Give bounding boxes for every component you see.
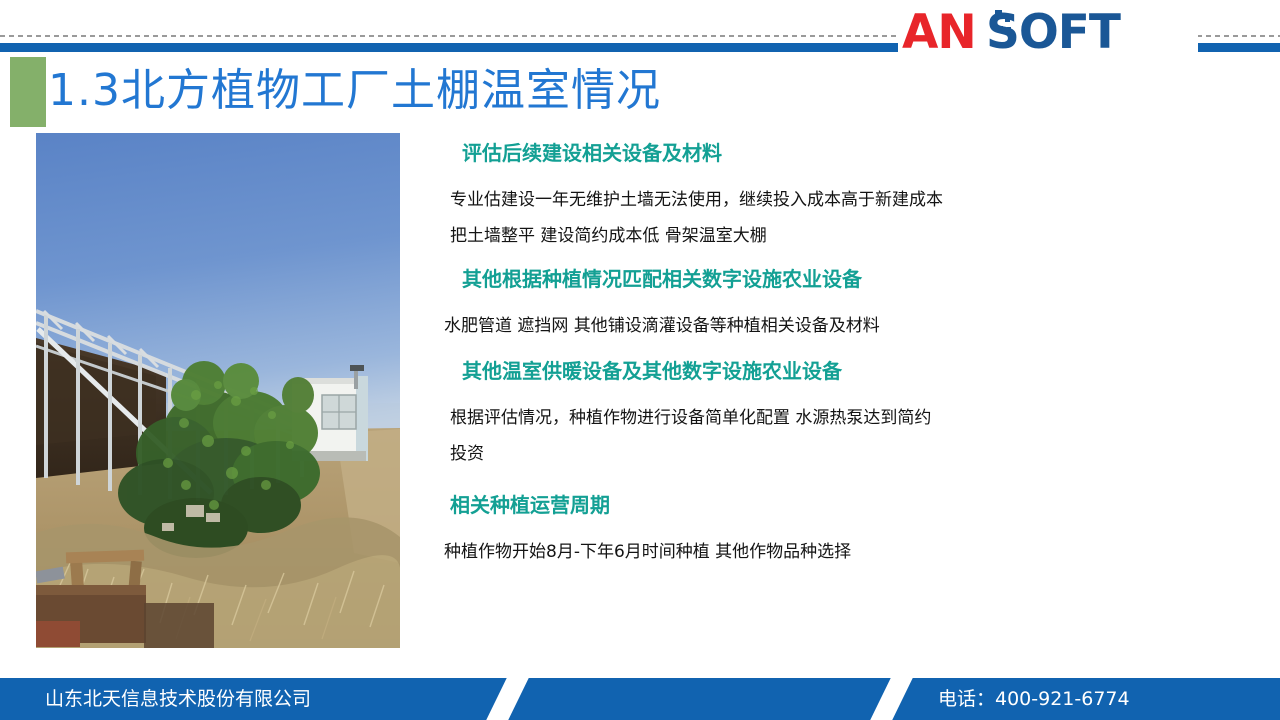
- footer-phone: 电话：400-921-6774: [938, 686, 1130, 712]
- section-heading-3: 其他温室供暖设备及其他数字设施农业设备: [462, 356, 842, 386]
- footer-company-name: 山东北天信息技术股份有限公司: [45, 686, 311, 712]
- footer-slash-decoration-1: [478, 678, 535, 720]
- svg-text:SOFT: SOFT: [986, 5, 1121, 54]
- ansoft-logo: AN SOFT: [898, 2, 1198, 54]
- section-1-line-1: 专业估建设一年无维护土墙无法使用，继续投入成本高于新建成本: [450, 182, 943, 218]
- greenhouse-photo: [36, 133, 400, 648]
- slide-footer: 山东北天信息技术股份有限公司 电话：400-921-6774: [0, 678, 1280, 720]
- section-heading-2: 其他根据种植情况匹配相关数字设施农业设备: [462, 264, 862, 294]
- section-4-line-1: 种植作物开始8月-下年6月时间种植 其他作物品种选择: [444, 534, 851, 570]
- section-1-line-2: 把土墙整平 建设简约成本低 骨架温室大棚: [450, 218, 767, 254]
- section-3-line-2: 投资: [450, 436, 484, 472]
- section-heading-1: 评估后续建设相关设备及材料: [462, 138, 722, 168]
- section-3-line-1: 根据评估情况，种植作物进行设备简单化配置 水源热泵达到简约: [450, 400, 931, 436]
- section-2-line-1: 水肥管道 遮挡网 其他铺设滴灌设备等种植相关设备及材料: [444, 308, 880, 344]
- title-accent-bar: [10, 57, 46, 127]
- slide-root: AN SOFT 1.3北方植物工厂土棚温室情况: [0, 0, 1280, 720]
- page-title: 1.3北方植物工厂土棚温室情况: [48, 58, 661, 124]
- svg-text:AN: AN: [902, 5, 976, 54]
- footer-slash-decoration-2: [862, 678, 919, 720]
- section-heading-4: 相关种植运营周期: [450, 490, 610, 520]
